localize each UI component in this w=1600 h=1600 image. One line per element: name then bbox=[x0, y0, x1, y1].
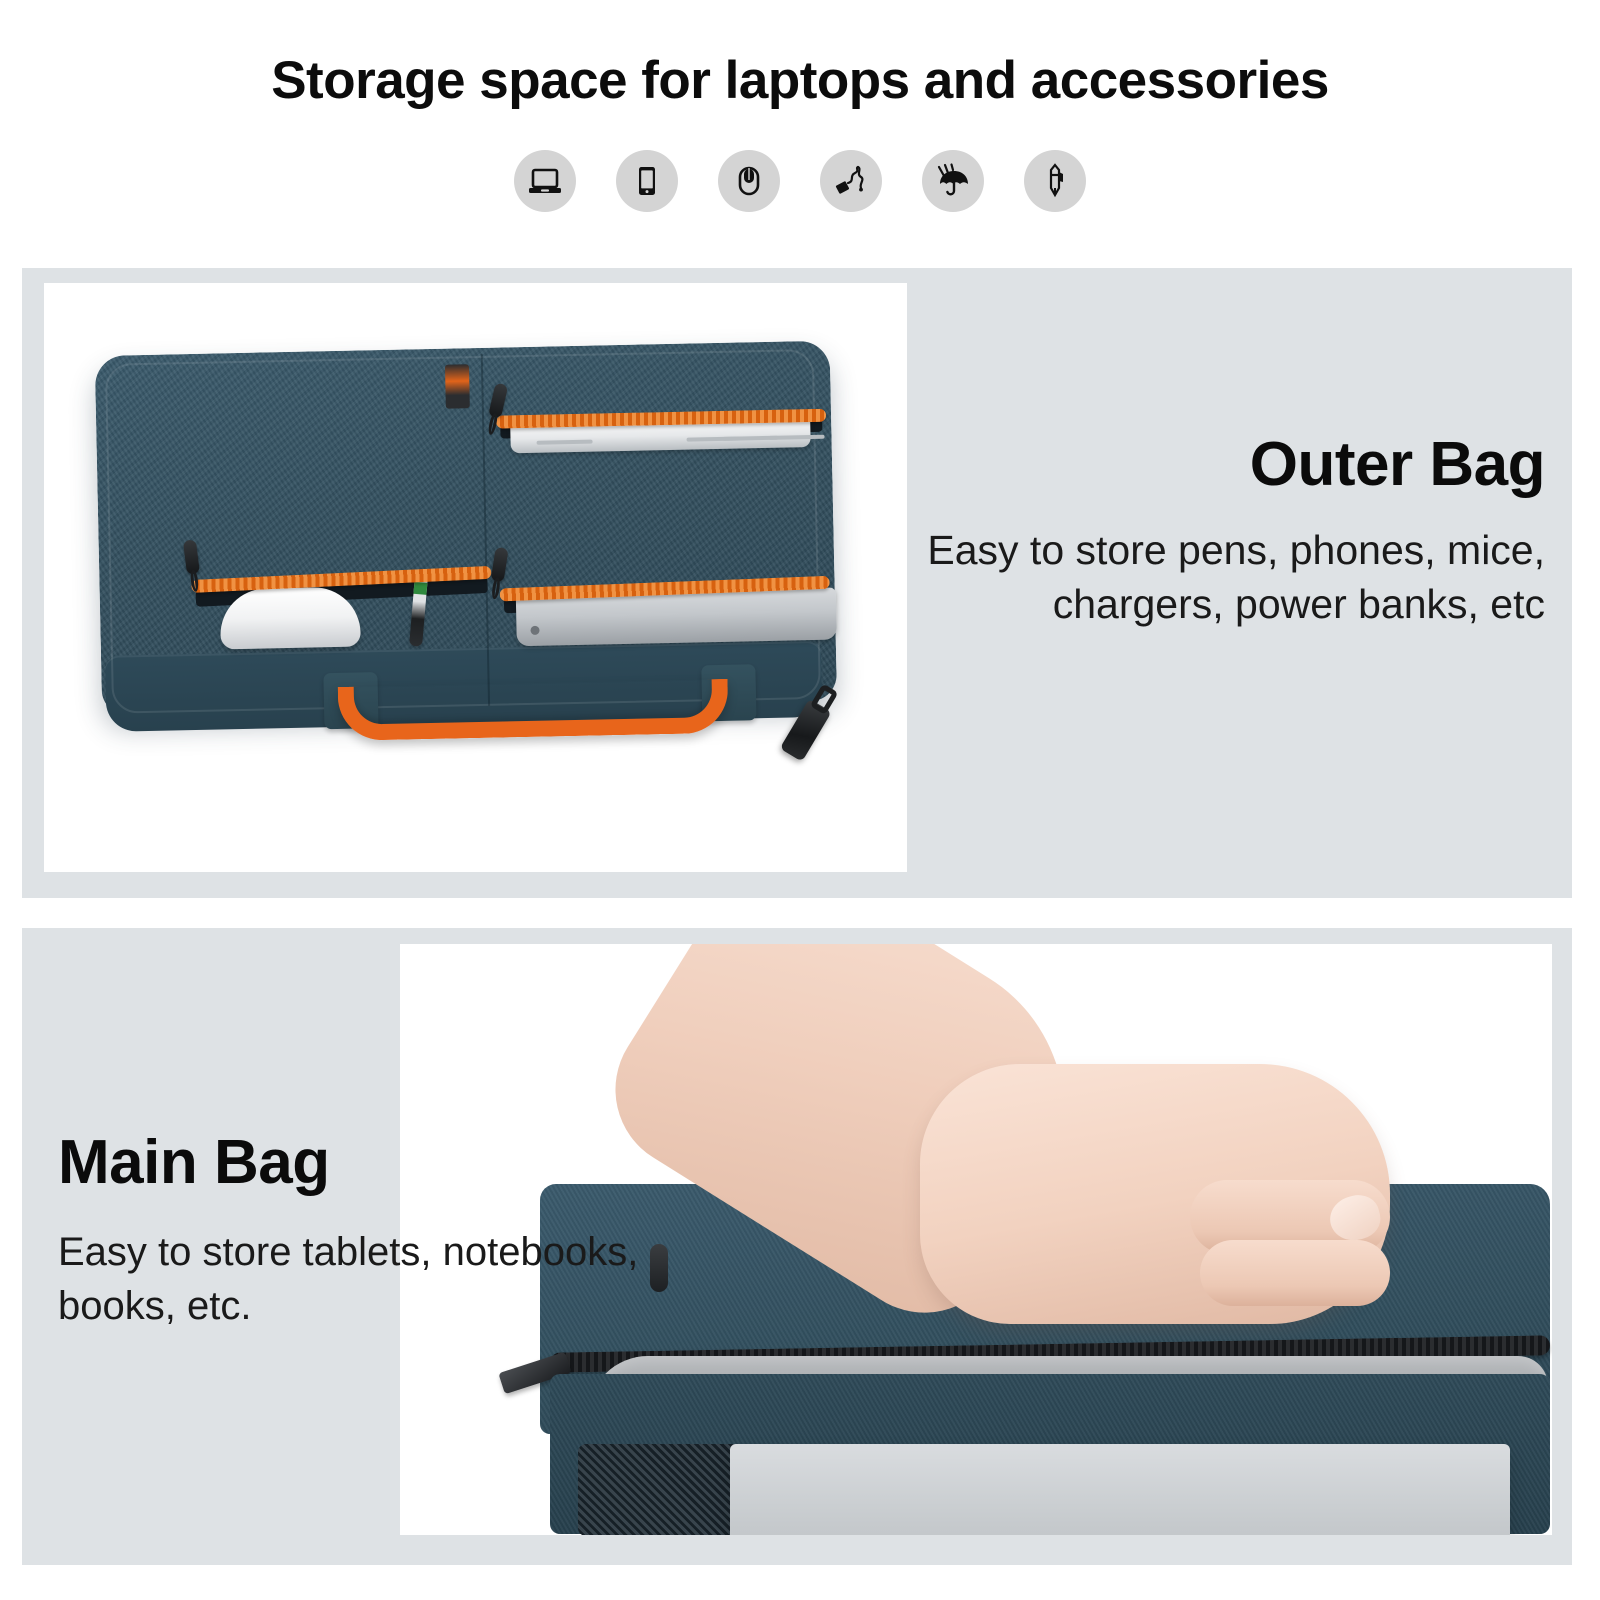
page-title: Storage space for laptops and accessorie… bbox=[0, 50, 1600, 111]
feature-icon-row bbox=[0, 150, 1600, 212]
pen-icon bbox=[1024, 150, 1086, 212]
outer-bag-photo bbox=[44, 283, 907, 872]
brand-tag bbox=[445, 364, 470, 408]
outer-bag-body: Easy to store pens, phones, mice, charge… bbox=[905, 523, 1545, 631]
outer-bag-text: Outer Bag Easy to store pens, phones, mi… bbox=[905, 432, 1545, 631]
outer-bag-heading: Outer Bag bbox=[905, 432, 1545, 497]
main-bag-heading: Main Bag bbox=[58, 1130, 678, 1195]
header: Storage space for laptops and accessorie… bbox=[0, 0, 1600, 262]
bag-flat-lay bbox=[95, 340, 864, 776]
finger-lower bbox=[1200, 1240, 1390, 1306]
mouse-in-pocket bbox=[220, 587, 361, 650]
charger-icon bbox=[820, 150, 882, 212]
phone-icon bbox=[616, 150, 678, 212]
main-bag-text: Main Bag Easy to store tablets, notebook… bbox=[58, 1130, 678, 1334]
umbrella-icon bbox=[922, 150, 984, 212]
carry-handle bbox=[338, 679, 729, 741]
laptop-inserted bbox=[730, 1444, 1510, 1535]
laptop-icon bbox=[514, 150, 576, 212]
mouse-icon bbox=[718, 150, 780, 212]
main-bag-body: Easy to store tablets, notebooks, books,… bbox=[58, 1225, 678, 1334]
